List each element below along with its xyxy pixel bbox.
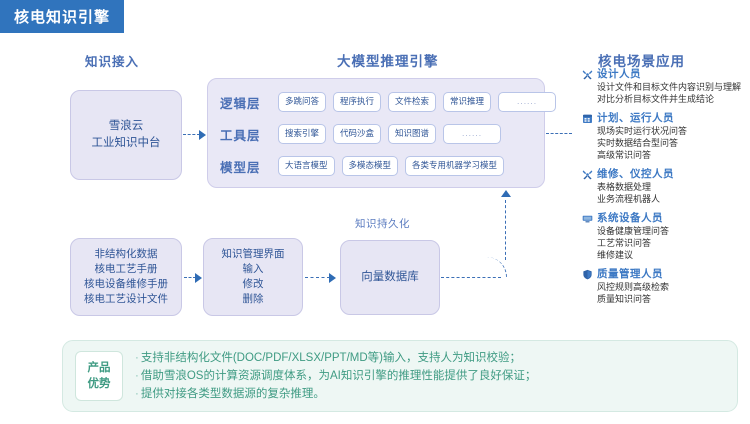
advantage-line: ·提供对接各类型数据源的复杂推理。: [135, 385, 536, 403]
app-item: 现场实时运行状况问答: [597, 125, 750, 137]
app-group-title: 维修、仪控人员: [597, 168, 674, 180]
box-line: 非结构化数据: [95, 247, 158, 262]
connector-vector-right: [441, 277, 501, 278]
arrow-data-to-km: [195, 273, 202, 283]
app-group-title: 计划、运行人员: [597, 112, 674, 124]
app-item: 质量知识问答: [597, 293, 750, 305]
chip-multihop-qa[interactable]: 多跳问答: [278, 92, 326, 112]
app-item: 业务流程机器人: [597, 193, 750, 205]
chip-large-language-model[interactable]: 大语言模型: [278, 156, 335, 176]
app-group: 维修、仪控人员 表格数据处理 业务流程机器人: [582, 168, 750, 205]
panel-inference-engine: 逻辑层 多跳问答 程序执行 文件检索 常识推理 ...... 工具层 搜索引擎 …: [207, 78, 545, 188]
chip-code-sandbox[interactable]: 代码沙盒: [333, 124, 381, 144]
chip-search-engine[interactable]: 搜索引擎: [278, 124, 326, 144]
calendar-icon: [582, 113, 593, 124]
box-line: 核电工艺设计文件: [84, 292, 168, 307]
box-line: 修改: [243, 277, 264, 292]
bullet-dot: ·: [135, 352, 139, 364]
arrow-platform-to-engine: [199, 130, 206, 140]
connector-km-to-vector: [305, 277, 330, 278]
chip-more-tools[interactable]: ......: [443, 124, 501, 144]
box-line: 删除: [243, 292, 264, 307]
connector-engine-to-apps: [546, 133, 572, 134]
engine-layer-row: 工具层 搜索引擎 代码沙盒 知识图谱 ......: [208, 118, 544, 150]
box-unstructured-data: 非结构化数据 核电工艺手册 核电设备维修手册 核电工艺设计文件: [70, 238, 182, 316]
app-item: 维修建议: [597, 249, 750, 261]
app-item: 工艺常识问答: [597, 237, 750, 249]
chip-program-execution[interactable]: 程序执行: [333, 92, 381, 112]
advantages-list: ·支持非结构化文件(DOC/PDF/XLSX/PPT/MD等)输入，支持人为知识…: [135, 349, 536, 403]
box-line: 向量数据库: [361, 270, 419, 285]
app-group-header: 系统设备人员: [582, 212, 750, 224]
engine-layer-row: 逻辑层 多跳问答 程序执行 文件检索 常识推理 ......: [208, 86, 544, 118]
arrow-vector-to-engine: [501, 190, 511, 197]
chip-commonsense-reasoning[interactable]: 常识推理: [443, 92, 491, 112]
app-group-header: 设计人员: [582, 68, 750, 80]
section-heading-engine: 大模型推理引擎: [337, 50, 439, 70]
app-item: 高级常识问答: [597, 149, 750, 161]
wrench-cross-icon: [582, 169, 593, 180]
layer-name-models: 模型层: [220, 157, 278, 176]
advantage-text: 支持非结构化文件(DOC/PDF/XLSX/PPT/MD等)输入，支持人为知识校…: [141, 352, 521, 364]
connector-vector-up: [505, 200, 506, 260]
box-vector-database: 向量数据库: [340, 240, 440, 315]
bullet-dot: ·: [135, 370, 139, 382]
connector-platform-to-engine: [183, 134, 200, 135]
app-group: 设计人员 设计文件和目标文件内容识别与理解 对比分析目标文件并生成结论: [582, 68, 750, 105]
app-group-items: 设备健康管理问答 工艺常识问答 维修建议: [597, 225, 750, 261]
section-heading-persistence: 知识持久化: [355, 216, 410, 231]
advantage-text: 借助雪浪OS的计算资源调度体系，为AI知识引擎的推理性能提供了良好保证；: [141, 370, 536, 382]
app-item: 设备健康管理问答: [597, 225, 750, 237]
app-item: 对比分析目标文件并生成结论: [597, 93, 750, 105]
slide-canvas: 核电知识引擎 知识接入 大模型推理引擎 核电场景应用 知识持久化 雪浪云 工业知…: [0, 0, 750, 424]
app-group-title: 设计人员: [597, 68, 641, 80]
arrow-km-to-vector: [329, 273, 336, 283]
app-group-title: 质量管理人员: [597, 268, 663, 280]
title-banner: 核电知识引擎: [0, 0, 124, 33]
box-knowledge-platform: 雪浪云 工业知识中台: [70, 90, 182, 180]
box-knowledge-management-ui: 知识管理界面 输入 修改 删除: [203, 238, 303, 316]
layer-name-logic: 逻辑层: [220, 93, 278, 112]
box-line: 知识管理界面: [222, 247, 285, 262]
shield-icon: [582, 269, 593, 280]
advantages-badge-line: 优势: [88, 376, 111, 392]
app-item: 设计文件和目标文件内容识别与理解: [597, 81, 750, 93]
monitor-icon: [582, 213, 593, 224]
chip-file-retrieval[interactable]: 文件检索: [388, 92, 436, 112]
bullet-dot: ·: [135, 388, 139, 400]
box-line: 输入: [243, 262, 264, 277]
box-line: 核电设备维修手册: [84, 277, 168, 292]
advantages-panel: 产品 优势 ·支持非结构化文件(DOC/PDF/XLSX/PPT/MD等)输入，…: [62, 340, 738, 412]
advantage-line: ·支持非结构化文件(DOC/PDF/XLSX/PPT/MD等)输入，支持人为知识…: [135, 349, 536, 367]
app-group-items: 设计文件和目标文件内容识别与理解 对比分析目标文件并生成结论: [597, 81, 750, 105]
app-group: 系统设备人员 设备健康管理问答 工艺常识问答 维修建议: [582, 212, 750, 261]
app-group-header: 质量管理人员: [582, 268, 750, 280]
wrench-cross-icon: [582, 69, 593, 80]
advantages-badge: 产品 优势: [75, 351, 123, 401]
advantages-badge-line: 产品: [88, 360, 111, 376]
app-group: 质量管理人员 风控规则高级检索 质量知识问答: [582, 268, 750, 305]
app-item: 表格数据处理: [597, 181, 750, 193]
app-group-header: 计划、运行人员: [582, 112, 750, 124]
chip-knowledge-graph[interactable]: 知识图谱: [388, 124, 436, 144]
page-title: 核电知识引擎: [14, 6, 110, 27]
applications-list: 设计人员 设计文件和目标文件内容识别与理解 对比分析目标文件并生成结论 计划、运…: [582, 68, 750, 312]
app-group-header: 维修、仪控人员: [582, 168, 750, 180]
chip-specialized-ml-models[interactable]: 各类专用机器学习模型: [405, 156, 504, 176]
section-heading-applications: 核电场景应用: [598, 50, 685, 70]
advantage-line: ·借助雪浪OS的计算资源调度体系，为AI知识引擎的推理性能提供了良好保证；: [135, 367, 536, 385]
app-group: 计划、运行人员 现场实时运行状况问答 实时数据结合型问答 高级常识问答: [582, 112, 750, 161]
section-heading-ingest: 知识接入: [85, 51, 139, 70]
app-group-title: 系统设备人员: [597, 212, 663, 224]
app-item: 实时数据结合型问答: [597, 137, 750, 149]
app-group-items: 表格数据处理 业务流程机器人: [597, 181, 750, 205]
connector-vector-corner: [486, 257, 507, 277]
box-line: 雪浪云: [109, 118, 144, 135]
box-line: 工业知识中台: [92, 135, 161, 152]
advantage-text: 提供对接各类型数据源的复杂推理。: [141, 388, 325, 400]
engine-layer-row: 模型层 大语言模型 多模态模型 各类专用机器学习模型: [208, 150, 544, 182]
layer-name-tools: 工具层: [220, 125, 278, 144]
chip-more-logic[interactable]: ......: [498, 92, 556, 112]
app-item: 风控规则高级检索: [597, 281, 750, 293]
app-group-items: 现场实时运行状况问答 实时数据结合型问答 高级常识问答: [597, 125, 750, 161]
app-group-items: 风控规则高级检索 质量知识问答: [597, 281, 750, 305]
box-line: 核电工艺手册: [95, 262, 158, 277]
chip-multimodal-model[interactable]: 多模态模型: [342, 156, 399, 176]
